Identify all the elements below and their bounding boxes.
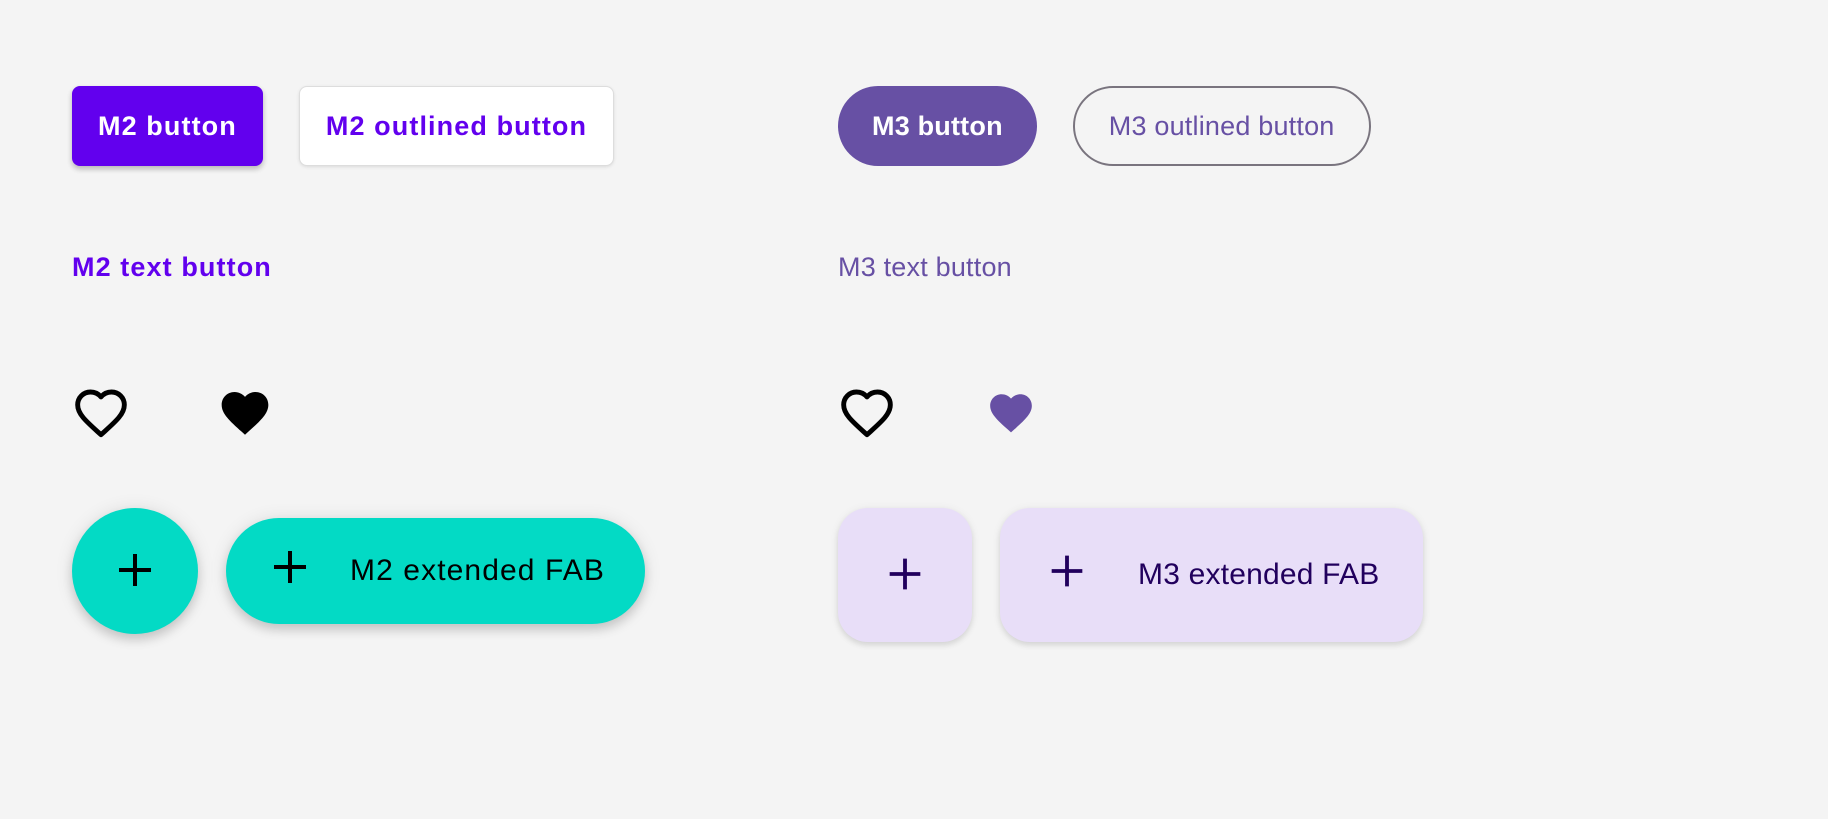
heart-filled-icon (217, 387, 273, 439)
m3-heart-filled-button[interactable] (982, 384, 1040, 442)
m3-extended-fab[interactable]: M3 extended FAB (1000, 508, 1423, 642)
plus-icon (1044, 548, 1090, 602)
plus-icon (882, 551, 928, 600)
heart-outline-icon (73, 387, 129, 439)
m3-text-button[interactable]: M3 text button (838, 252, 1012, 283)
m2-column: M2 button M2 outlined button M2 text but… (72, 0, 832, 819)
m3-filled-button[interactable]: M3 button (838, 86, 1037, 166)
m2-extended-fab[interactable]: M2 extended FAB (226, 518, 645, 624)
m2-filled-button[interactable]: M2 button (72, 86, 263, 166)
m3-extended-fab-label: M3 extended FAB (1138, 558, 1379, 592)
m2-button-row: M2 button M2 outlined button (72, 86, 614, 166)
m2-extended-fab-label: M2 extended FAB (350, 554, 605, 588)
m3-button-row: M3 button M3 outlined button (838, 86, 1371, 166)
m3-icon-row (838, 384, 1040, 442)
m2-outlined-button[interactable]: M2 outlined button (299, 86, 614, 166)
m3-outlined-button[interactable]: M3 outlined button (1073, 86, 1371, 166)
heart-filled-icon (986, 389, 1036, 437)
m2-text-button-row: M2 text button (72, 252, 272, 283)
heart-outline-icon (839, 387, 895, 439)
m3-column: M3 button M3 outlined button M3 text but… (838, 0, 1598, 819)
m2-heart-filled-button[interactable] (216, 384, 274, 442)
m2-icon-row (72, 384, 274, 442)
plus-icon (266, 543, 314, 599)
m2-heart-outline-button[interactable] (72, 384, 130, 442)
m3-fab-row: M3 extended FAB (838, 508, 1423, 642)
comparison-stage: M2 button M2 outlined button M2 text but… (0, 0, 1828, 819)
m2-fab-row: M2 extended FAB (72, 508, 645, 634)
m2-fab[interactable] (72, 508, 198, 634)
m3-fab[interactable] (838, 508, 972, 642)
m3-text-button-row: M3 text button (838, 252, 1012, 283)
plus-icon (111, 546, 159, 597)
m2-text-button[interactable]: M2 text button (72, 252, 272, 283)
m3-heart-outline-button[interactable] (838, 384, 896, 442)
